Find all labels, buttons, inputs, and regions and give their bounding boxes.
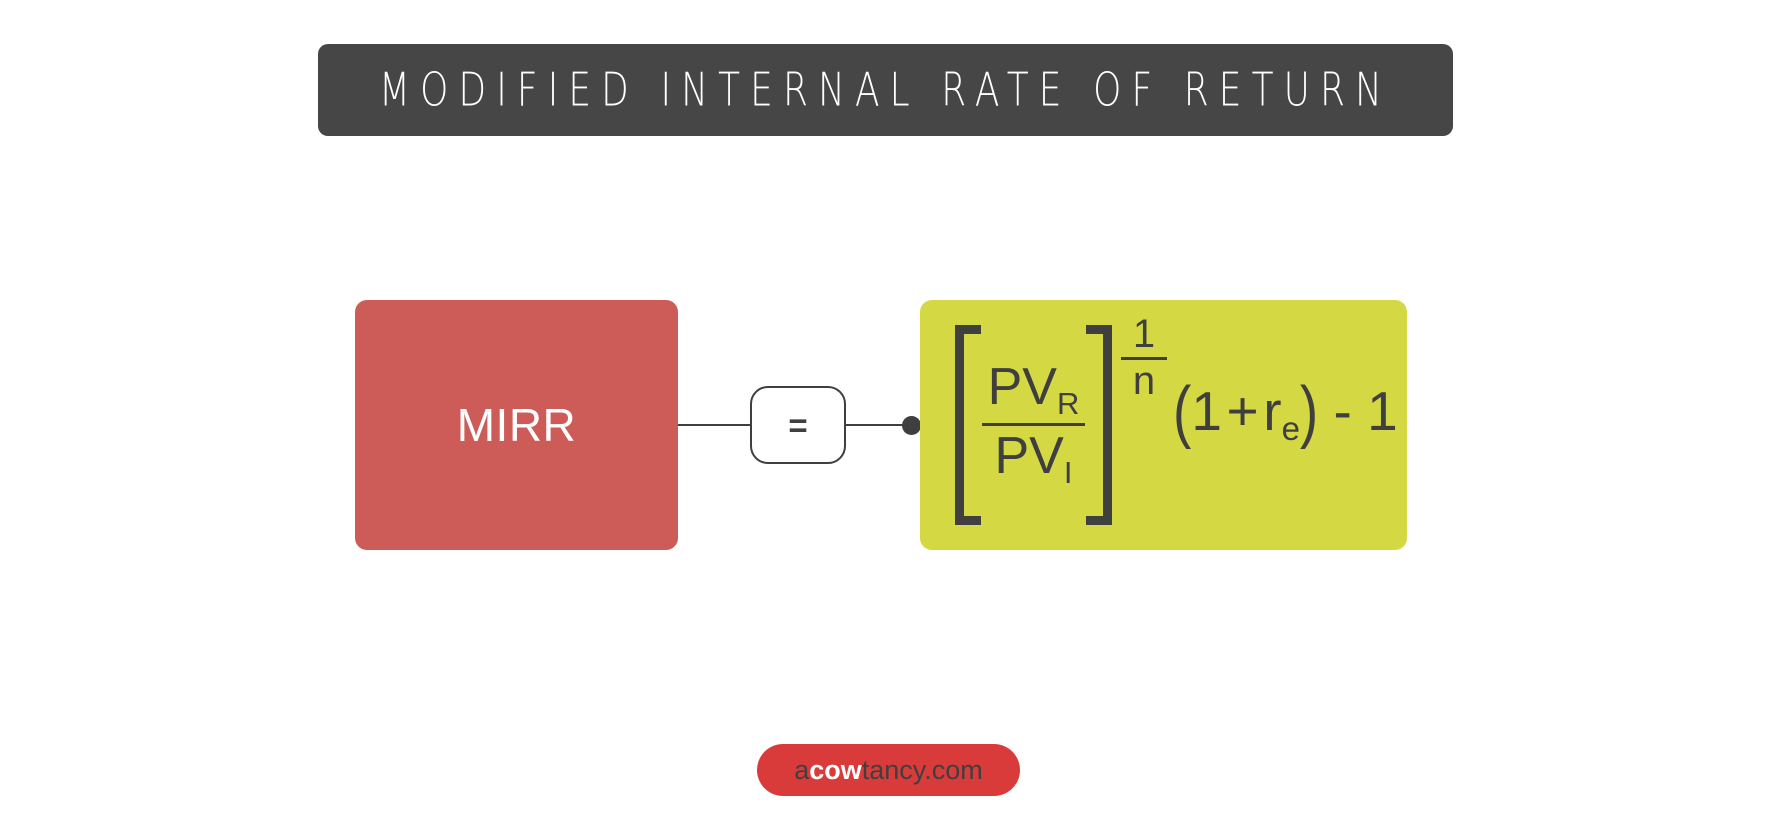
exponent-denominator: n [1133, 361, 1155, 402]
page-title-bar: MODIFIED INTERNAL RATE OF RETURN [318, 44, 1453, 136]
rate-subscript: e [1282, 410, 1300, 447]
fraction-numerator: PVR [988, 363, 1080, 419]
logo-highlight: cow [809, 755, 862, 785]
exponent-one-over-n: 1 n [1116, 314, 1172, 402]
right-bracket-icon [1086, 325, 1112, 525]
fraction: PVR PVI [981, 331, 1086, 519]
logo-prefix: a [794, 755, 809, 785]
tail-one: 1 [1191, 380, 1222, 442]
denominator-base: PV [995, 427, 1064, 485]
bracketed-fraction: PVR PVI [955, 325, 1112, 525]
close-paren: ) [1300, 377, 1318, 446]
connector-line-right [846, 424, 908, 426]
denominator-subscript: I [1064, 454, 1073, 489]
formula-tail: (1 + re) - 1 [1173, 384, 1398, 445]
tail-minus-one: - 1 [1334, 380, 1398, 442]
node-formula[interactable]: PVR PVI 1 n (1 + re) - 1 [920, 300, 1407, 550]
numerator-subscript: R [1057, 386, 1079, 421]
node-mirr[interactable]: MIRR [355, 300, 678, 550]
exponent-numerator: 1 [1133, 314, 1155, 355]
formula-diagram: MIRR = PVR PVI 1 n (1 + re) - 1 [0, 290, 1771, 560]
equals-sign: = [788, 409, 807, 442]
open-paren: ( [1173, 377, 1191, 446]
node-mirr-label: MIRR [457, 398, 577, 452]
logo-suffix: tancy.com [862, 755, 983, 785]
left-bracket-icon [955, 325, 981, 525]
site-logo-text: acowtancy.com [794, 755, 983, 786]
equals-node[interactable]: = [750, 386, 846, 464]
formula-expression: PVR PVI 1 n (1 + re) - 1 [920, 300, 1407, 550]
numerator-base: PV [988, 358, 1057, 416]
page-title: MODIFIED INTERNAL RATE OF RETURN [379, 63, 1392, 116]
site-logo[interactable]: acowtancy.com [757, 744, 1020, 796]
connector-dot [902, 416, 921, 435]
connector-line-left [678, 424, 750, 426]
fraction-bar [982, 423, 1085, 426]
tail-plus: + [1227, 380, 1259, 442]
rate-base: r [1263, 380, 1281, 442]
fraction-denominator: PVI [995, 432, 1073, 488]
